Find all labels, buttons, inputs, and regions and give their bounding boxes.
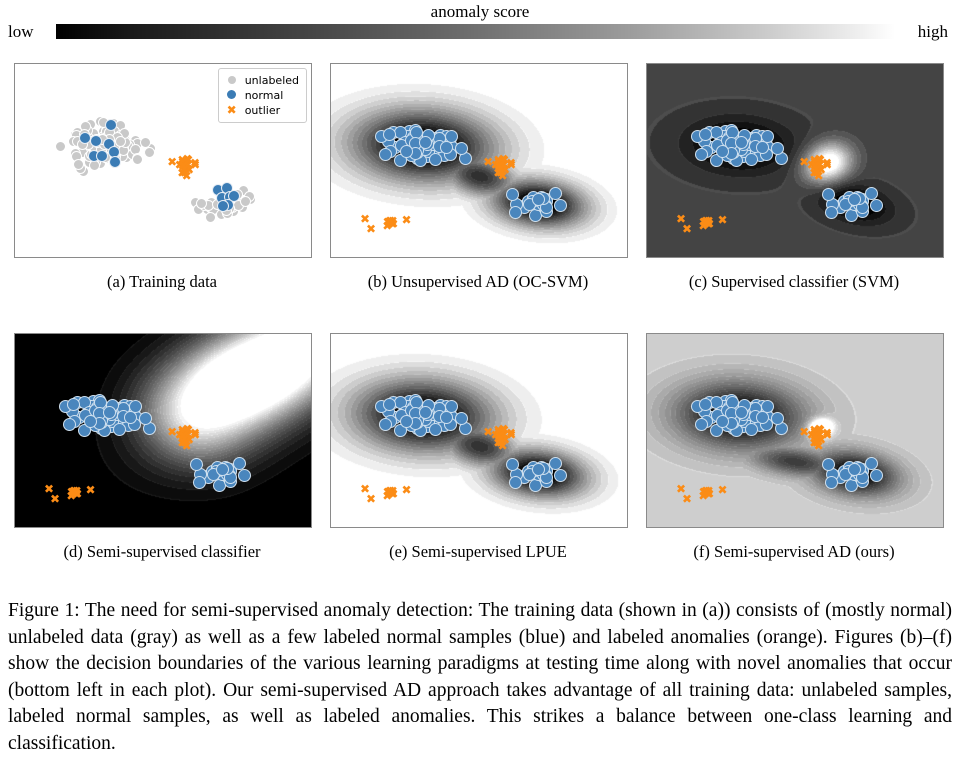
data-point-outlier-labeled: ✖: [810, 431, 820, 441]
data-point-normal: [419, 406, 432, 419]
data-point-normal: [113, 423, 126, 436]
data-point-normal: [506, 188, 519, 201]
data-point-outlier-labeled: ✖: [494, 161, 504, 171]
data-point-normal: [745, 153, 758, 166]
legend-label-outlier: outlier: [245, 103, 280, 118]
panel-d-caption: (d) Semi-supervised classifier: [7, 542, 317, 562]
data-point-outlier-novel: ✖: [401, 215, 411, 225]
data-point-outlier-labeled: ✖: [494, 431, 504, 441]
legend-item-outlier: ✖ outlier: [224, 103, 299, 118]
panel-e-semi-supervised-lpue: ✖✖✖✖✖✖✖✖✖✖✖✖✖✖✖✖✖✖✖✖✖✖✖✖✖✖✖✖✖✖✖✖✖✖✖✖✖: [330, 333, 628, 528]
data-point-normal: [549, 457, 562, 470]
data-point-normal: [509, 206, 522, 219]
data-point-unlabeled: [115, 136, 126, 147]
data-point-outlier-labeled: ✖: [810, 161, 820, 171]
data-point-normal: [554, 469, 567, 482]
data-point-normal: [865, 187, 878, 200]
data-point-outlier: ✖: [178, 161, 188, 171]
colorbar-title: anomaly score: [0, 2, 960, 22]
panel-c-plot-area: ✖✖✖✖✖✖✖✖✖✖✖✖✖✖✖✖✖✖✖✖✖✖✖✖✖✖✖✖✖✖✖✖✖✖✖✖✖: [647, 64, 943, 257]
data-point-normal: [139, 412, 152, 425]
data-point-normal: [735, 406, 748, 419]
panel-d-semi-supervised-classifier: ✖✖✖✖✖✖✖✖✖✖✖✖✖✖✖✖✖✖✖✖✖✖✖✖✖✖✖✖✖✖✖✖✖✖✖✖✖: [14, 333, 312, 528]
data-point-unlabeled: [73, 159, 84, 170]
colorbar-high-label: high: [918, 22, 948, 42]
data-point-normal: [695, 418, 708, 431]
data-point-normal: [716, 415, 729, 428]
legend-marker-circle-blue-icon: [224, 88, 240, 103]
legend-label-unlabeled: unlabeled: [245, 73, 299, 88]
data-point-unlabeled: [240, 196, 251, 207]
data-point-normal: [822, 188, 835, 201]
data-point-outlier-labeled: ✖: [799, 157, 809, 167]
data-point-normal: [509, 476, 522, 489]
data-point-outlier-novel: ✖: [366, 494, 376, 504]
legend-marker-x-orange-icon: ✖: [224, 103, 240, 118]
data-point-normal: [825, 206, 838, 219]
panel-c-caption: (c) Supervised classifier (SVM): [639, 272, 949, 292]
legend-item-unlabeled: unlabeled: [224, 73, 299, 88]
data-point-outlier-labeled: ✖: [799, 427, 809, 437]
data-point-outlier-labeled: ✖: [167, 427, 177, 437]
figure-caption: Figure 1: The need for semi-supervised a…: [8, 598, 952, 757]
colorbar-gradient: [56, 24, 895, 39]
data-point-normal: [870, 199, 883, 212]
data-point-normal: [233, 457, 246, 470]
data-point-outlier-labeled: ✖: [178, 431, 188, 441]
data-point-normal: [400, 415, 413, 428]
panel-e-caption: (e) Semi-supervised LPUE: [323, 542, 633, 562]
data-point-normal: [379, 418, 392, 431]
data-point-normal: [870, 469, 883, 482]
data-point-normal: [429, 423, 442, 436]
data-point-normal: [193, 476, 206, 489]
data-point-normal: [103, 406, 116, 419]
data-point-normal: [699, 128, 712, 141]
data-point-normal: [695, 148, 708, 161]
data-point-unlabeled: [205, 212, 216, 223]
panel-c-supervised-classifier: ✖✖✖✖✖✖✖✖✖✖✖✖✖✖✖✖✖✖✖✖✖✖✖✖✖✖✖✖✖✖✖✖✖✖✖✖✖: [646, 63, 944, 258]
panel-d-plot-area: ✖✖✖✖✖✖✖✖✖✖✖✖✖✖✖✖✖✖✖✖✖✖✖✖✖✖✖✖✖✖✖✖✖✖✖✖✖: [15, 334, 311, 527]
data-point-normal: [735, 136, 748, 149]
panel-f-plot-area: ✖✖✖✖✖✖✖✖✖✖✖✖✖✖✖✖✖✖✖✖✖✖✖✖✖✖✖✖✖✖✖✖✖✖✖✖✖: [647, 334, 943, 527]
data-point-normal: [67, 398, 80, 411]
data-point-normal: [84, 415, 97, 428]
data-point-outlier-novel: ✖: [682, 224, 692, 234]
panel-a-training-data: ✖✖✖✖✖✖✖✖✖✖✖✖✖✖✖✖✖✖✖✖✖✖✖✖ unlabeled norma…: [14, 63, 312, 258]
panel-b-caption: (b) Unsupervised AD (OC-SVM): [323, 272, 633, 292]
data-point-normal: [455, 412, 468, 425]
data-point-normal: [379, 148, 392, 161]
data-point-outlier-novel: ✖: [366, 224, 376, 234]
panel-a-caption: (a) Training data: [7, 272, 317, 292]
data-point-normal: [745, 423, 758, 436]
data-point-outlier-novel: ✖: [401, 485, 411, 495]
data-point-normal: [429, 153, 442, 166]
data-point-normal: [109, 156, 121, 168]
data-point-outlier-labeled: ✖: [483, 157, 493, 167]
data-point-outlier-novel: ✖: [717, 485, 727, 495]
data-point-outlier-novel: ✖: [682, 494, 692, 504]
data-point-outlier-novel: ✖: [704, 219, 714, 229]
data-point-normal: [79, 132, 91, 144]
legend-marker-circle-gray-icon: [224, 73, 240, 88]
panel-b-unsupervised-ad: ✖✖✖✖✖✖✖✖✖✖✖✖✖✖✖✖✖✖✖✖✖✖✖✖✖✖✖✖✖✖✖✖✖✖✖✖✖: [330, 63, 628, 258]
data-point-outlier: ✖: [167, 157, 177, 167]
colorbar: anomaly score low high: [0, 0, 960, 50]
data-point-normal: [822, 458, 835, 471]
panel-b-plot-area: ✖✖✖✖✖✖✖✖✖✖✖✖✖✖✖✖✖✖✖✖✖✖✖✖✖✖✖✖✖✖✖✖✖✖✖✖✖: [331, 64, 627, 257]
data-point-normal: [549, 187, 562, 200]
colorbar-low-label: low: [8, 22, 34, 42]
data-point-normal: [63, 418, 76, 431]
data-point-unlabeled: [144, 147, 155, 158]
data-point-outlier-novel: ✖: [72, 489, 82, 499]
data-point-normal: [865, 457, 878, 470]
data-point-unlabeled: [55, 141, 66, 152]
data-point-outlier-novel: ✖: [388, 489, 398, 499]
data-point-normal: [825, 476, 838, 489]
data-point-normal: [105, 119, 117, 131]
data-point-normal: [506, 458, 519, 471]
data-point-normal: [554, 199, 567, 212]
data-point-outlier-novel: ✖: [704, 489, 714, 499]
panel-f-semi-supervised-ad: ✖✖✖✖✖✖✖✖✖✖✖✖✖✖✖✖✖✖✖✖✖✖✖✖✖✖✖✖✖✖✖✖✖✖✖✖✖: [646, 333, 944, 528]
data-point-normal: [716, 145, 729, 158]
data-point-normal: [771, 142, 784, 155]
data-point-normal: [400, 145, 413, 158]
data-point-outlier-novel: ✖: [85, 485, 95, 495]
panel-f-caption: (f) Semi-supervised AD (ours): [639, 542, 949, 562]
data-point-normal: [771, 412, 784, 425]
panel-e-plot-area: ✖✖✖✖✖✖✖✖✖✖✖✖✖✖✖✖✖✖✖✖✖✖✖✖✖✖✖✖✖✖✖✖✖✖✖✖✖: [331, 334, 627, 527]
legend-item-normal: normal: [224, 88, 299, 103]
data-point-normal: [96, 150, 108, 162]
data-point-normal: [419, 136, 432, 149]
data-point-normal: [383, 128, 396, 141]
legend-label-normal: normal: [245, 88, 284, 103]
data-point-outlier-novel: ✖: [388, 219, 398, 229]
data-point-normal: [383, 398, 396, 411]
data-point-normal: [90, 135, 102, 147]
data-point-outlier-labeled: ✖: [483, 427, 493, 437]
data-point-unlabeled: [132, 154, 143, 165]
data-point-normal: [699, 398, 712, 411]
data-point-normal: [455, 142, 468, 155]
data-point-normal: [190, 458, 203, 471]
data-point-outlier-novel: ✖: [717, 215, 727, 225]
data-point-normal: [238, 469, 251, 482]
legend: unlabeled normal ✖ outlier: [218, 68, 307, 123]
data-point-outlier-novel: ✖: [50, 494, 60, 504]
